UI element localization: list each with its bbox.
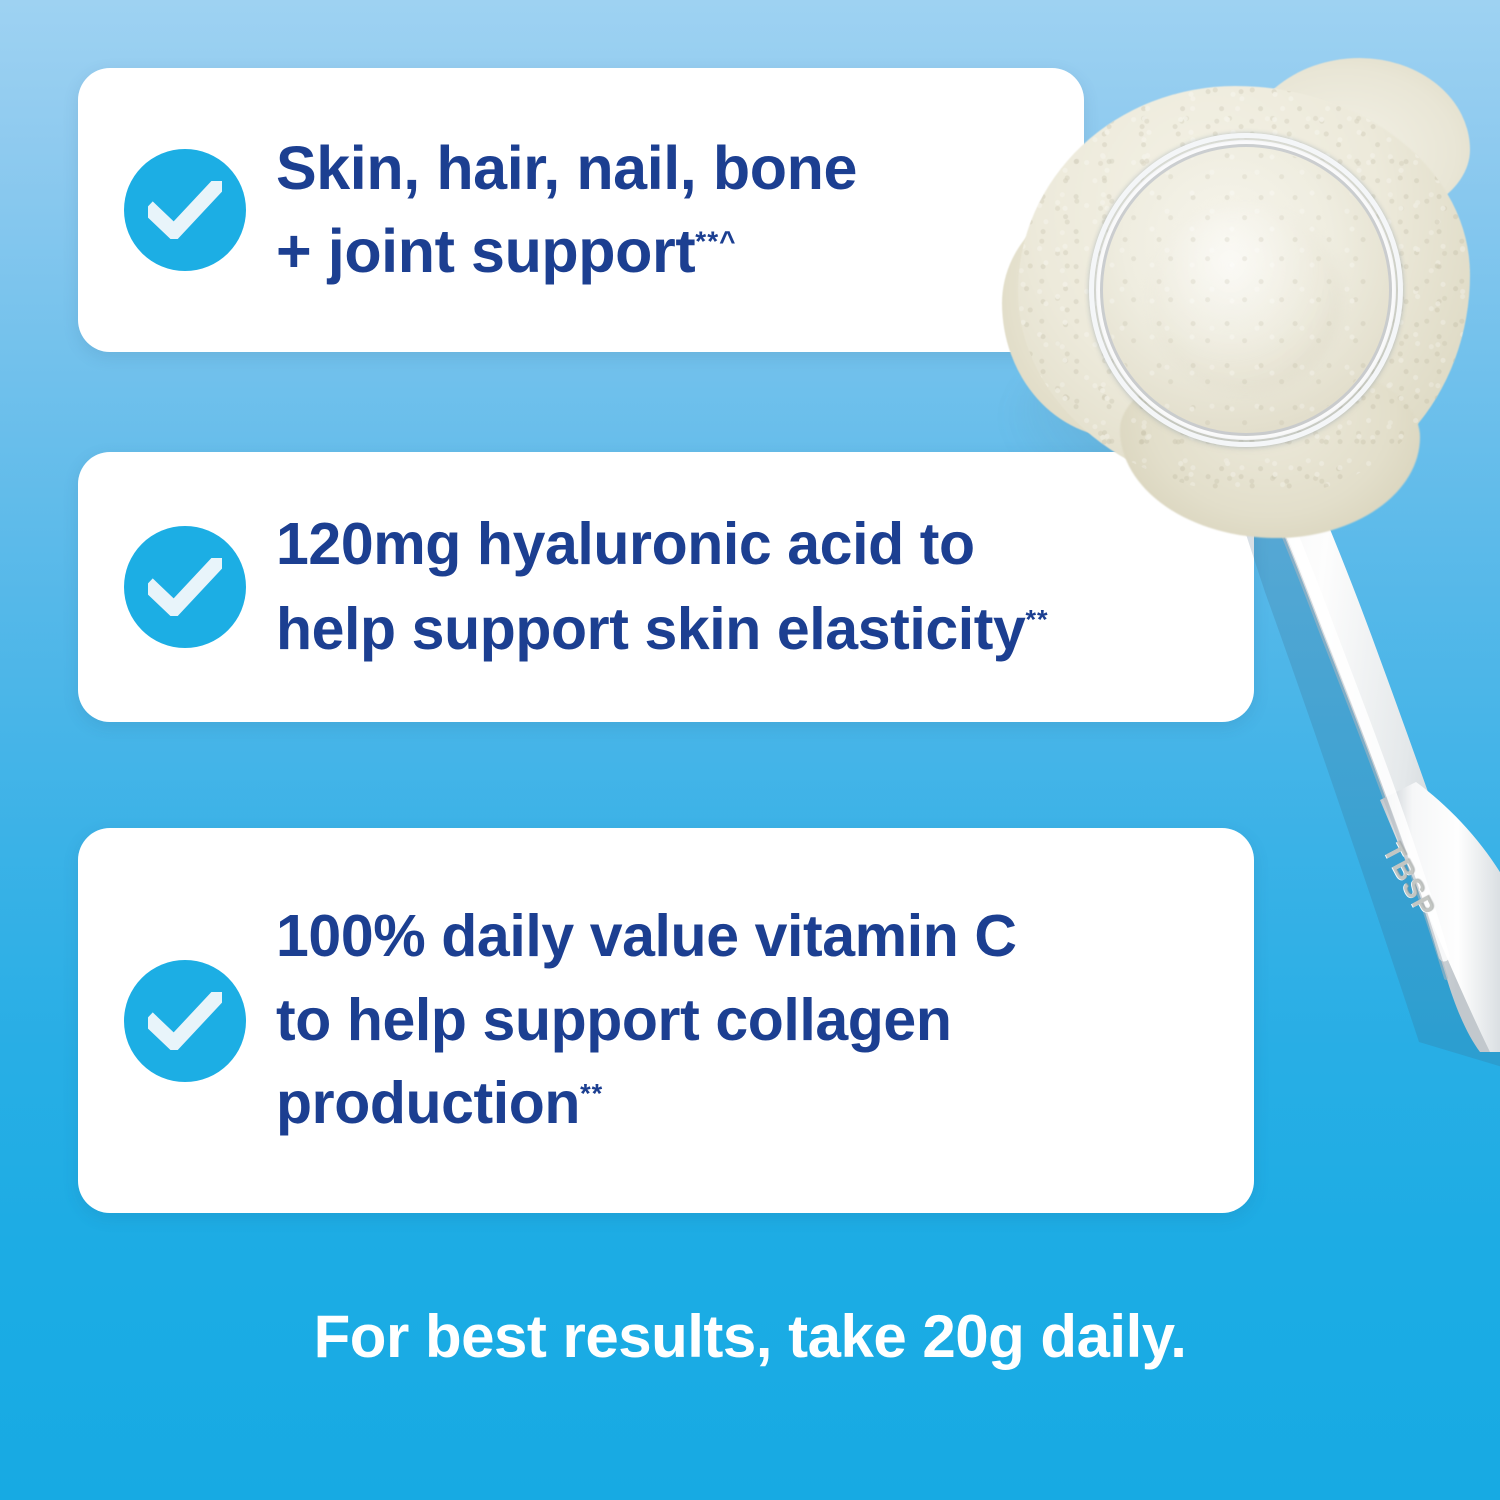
- benefit-2-line-2: help support skin elasticity: [276, 596, 1025, 662]
- benefit-card-list: Skin, hair, nail, bone+ joint support**^…: [0, 0, 1500, 1500]
- benefit-2-line-1: 120mg hyaluronic acid to: [276, 511, 975, 577]
- product-benefits-infographic: Skin, hair, nail, bone+ joint support**^…: [0, 0, 1500, 1500]
- benefit-card-1[interactable]: Skin, hair, nail, bone+ joint support**^: [78, 68, 1084, 352]
- benefit-card-2[interactable]: 120mg hyaluronic acid tohelp support ski…: [78, 452, 1254, 722]
- dosage-footer-note: For best results, take 20g daily.: [0, 1302, 1500, 1371]
- benefit-1-footnote: **^: [695, 226, 736, 257]
- check-icon: [124, 960, 246, 1082]
- benefit-card-3[interactable]: 100% daily value vitamin Cto help suppor…: [78, 828, 1254, 1213]
- benefit-card-1-text: Skin, hair, nail, bone+ joint support**^: [276, 127, 857, 293]
- benefit-1-line-1: Skin, hair, nail, bone: [276, 134, 857, 202]
- benefit-3-line-1: 100% daily value vitamin C: [276, 903, 1017, 969]
- benefit-3-line-3: production: [276, 1070, 580, 1136]
- benefit-3-footnote: **: [580, 1078, 603, 1109]
- benefit-3-line-2: to help support collagen: [276, 987, 951, 1053]
- benefit-card-3-text: 100% daily value vitamin Cto help suppor…: [276, 895, 1017, 1146]
- check-icon: [124, 526, 246, 648]
- benefit-1-line-2: + joint support: [276, 217, 695, 285]
- benefit-card-2-text: 120mg hyaluronic acid tohelp support ski…: [276, 502, 1049, 672]
- benefit-2-footnote: **: [1025, 603, 1048, 634]
- check-icon: [124, 149, 246, 271]
